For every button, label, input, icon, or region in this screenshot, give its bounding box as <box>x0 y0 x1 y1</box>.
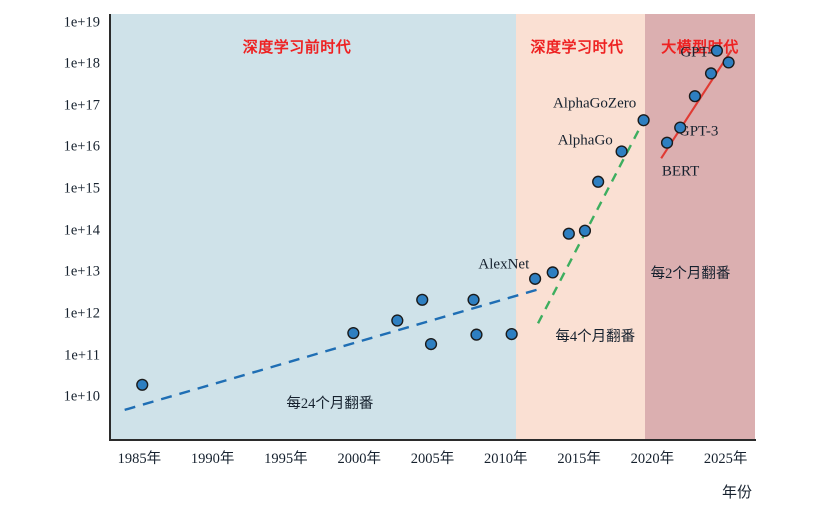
era-band-large-model <box>645 14 755 439</box>
x-tick-label: 2020年 <box>631 447 675 468</box>
era-title-deep-learning: 深度学习时代 <box>530 36 623 57</box>
training-compute-chart: 深度学习前时代 深度学习时代 大模型时代 训练计算性能需求/FLOPS 年份 1… <box>0 0 834 512</box>
y-tick-label: 1e+11 <box>30 347 100 364</box>
rate-annotation-deep-learning: 每4个月翻番 <box>555 325 635 346</box>
y-tick-label: 1e+17 <box>30 97 100 114</box>
y-tick-label: 1e+14 <box>30 222 100 239</box>
y-tick-label: 1e+12 <box>30 306 100 323</box>
point-label-gpt-3: GPT-3 <box>679 124 718 141</box>
y-tick-label: 1e+10 <box>30 389 100 406</box>
point-label-gpt-4: GPT-4 <box>680 44 719 61</box>
point-label-alphago: AlphaGo <box>558 133 613 150</box>
x-axis-title: 年份 <box>722 481 752 502</box>
era-band-deep-learning <box>516 14 645 439</box>
y-tick-label: 1e+18 <box>30 56 100 73</box>
y-axis-line <box>109 14 111 440</box>
x-tick-label: 2015年 <box>557 447 601 468</box>
y-tick-label: 1e+16 <box>30 139 100 156</box>
x-tick-label: 2005年 <box>411 447 455 468</box>
x-tick-label: 2025年 <box>704 447 748 468</box>
point-label-alphagozero: AlphaGoZero <box>553 96 636 113</box>
rate-annotation-pre-deep-learning: 每24个月翻番 <box>286 392 373 413</box>
plot-area <box>110 14 755 439</box>
x-tick-label: 2010年 <box>484 447 528 468</box>
y-tick-label: 1e+13 <box>30 264 100 281</box>
y-tick-label: 1e+19 <box>30 14 100 31</box>
point-label-bert: BERT <box>662 163 699 180</box>
point-label-alexnet: AlexNet <box>478 257 529 274</box>
x-tick-label: 1995年 <box>264 447 308 468</box>
rate-annotation-large-model: 每2个月翻番 <box>651 262 731 283</box>
era-title-pre-deep-learning: 深度学习前时代 <box>243 36 352 57</box>
x-tick-label: 1985年 <box>118 447 162 468</box>
era-band-pre-deep-learning <box>110 14 516 439</box>
x-tick-label: 2000年 <box>337 447 381 468</box>
x-axis-line <box>109 439 756 441</box>
x-tick-label: 1990年 <box>191 447 235 468</box>
y-tick-label: 1e+15 <box>30 181 100 198</box>
